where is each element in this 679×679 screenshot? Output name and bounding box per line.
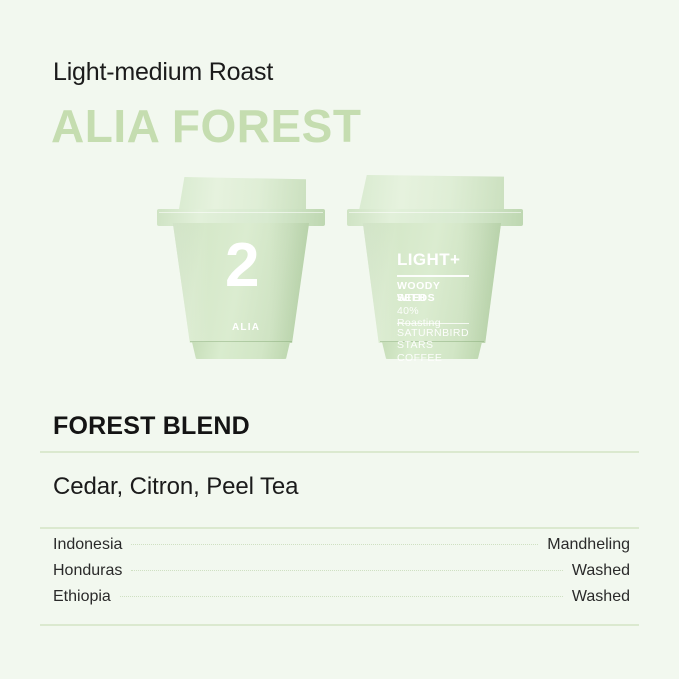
page-title: ALIA FOREST xyxy=(51,99,361,153)
tasting-notes: Cedar, Citron, Peel Tea xyxy=(53,473,298,501)
right-cup-brand-line1: SATURNBIRD xyxy=(397,327,469,340)
left-cup-series-label: ALIA xyxy=(232,322,260,333)
product-card: Light-medium Roast ALIA FOREST 2 ALIA xyxy=(0,0,679,679)
right-cup-flavor-line2: SEEDS xyxy=(397,292,435,304)
left-cup-number: 2 xyxy=(225,235,258,297)
table-row: Honduras Washed xyxy=(53,562,630,588)
product-photo: 2 ALIA LIGHT+ WOODY WITH SEEDS 40% Roast… xyxy=(0,165,679,395)
blend-name: FOREST BLEND xyxy=(53,412,250,441)
origin-country: Ethiopia xyxy=(53,588,111,606)
divider-bottom xyxy=(40,624,639,626)
leader-dots xyxy=(120,596,563,597)
table-row: Indonesia Mandheling xyxy=(53,536,630,562)
origin-country: Indonesia xyxy=(53,536,122,554)
right-cup-rule-top xyxy=(397,275,469,277)
leader-dots xyxy=(131,544,538,545)
right-cup-lid-highlight xyxy=(349,212,521,213)
origin-country: Honduras xyxy=(53,562,122,580)
origin-process: Washed xyxy=(572,562,630,580)
roast-level-label: Light-medium Roast xyxy=(53,58,273,87)
left-cup-base-seam xyxy=(190,341,292,342)
right-cup-roasting-value: 40% Roasting xyxy=(397,305,441,329)
divider-top xyxy=(40,451,639,453)
left-cup-base xyxy=(191,342,291,359)
divider-middle xyxy=(40,527,639,529)
origin-process: Washed xyxy=(572,588,630,606)
table-row: Ethiopia Washed xyxy=(53,588,630,614)
leader-dots xyxy=(131,570,563,571)
origins-table: Indonesia Mandheling Honduras Washed Eth… xyxy=(53,536,630,614)
origin-process: Mandheling xyxy=(547,536,630,554)
right-cup-brand-line2: STARS COFFEE xyxy=(397,339,442,364)
right-cup-intensity-label: LIGHT+ xyxy=(397,250,460,270)
right-cup-rule-bottom xyxy=(397,323,469,324)
left-cup-lid-highlight xyxy=(159,212,323,213)
